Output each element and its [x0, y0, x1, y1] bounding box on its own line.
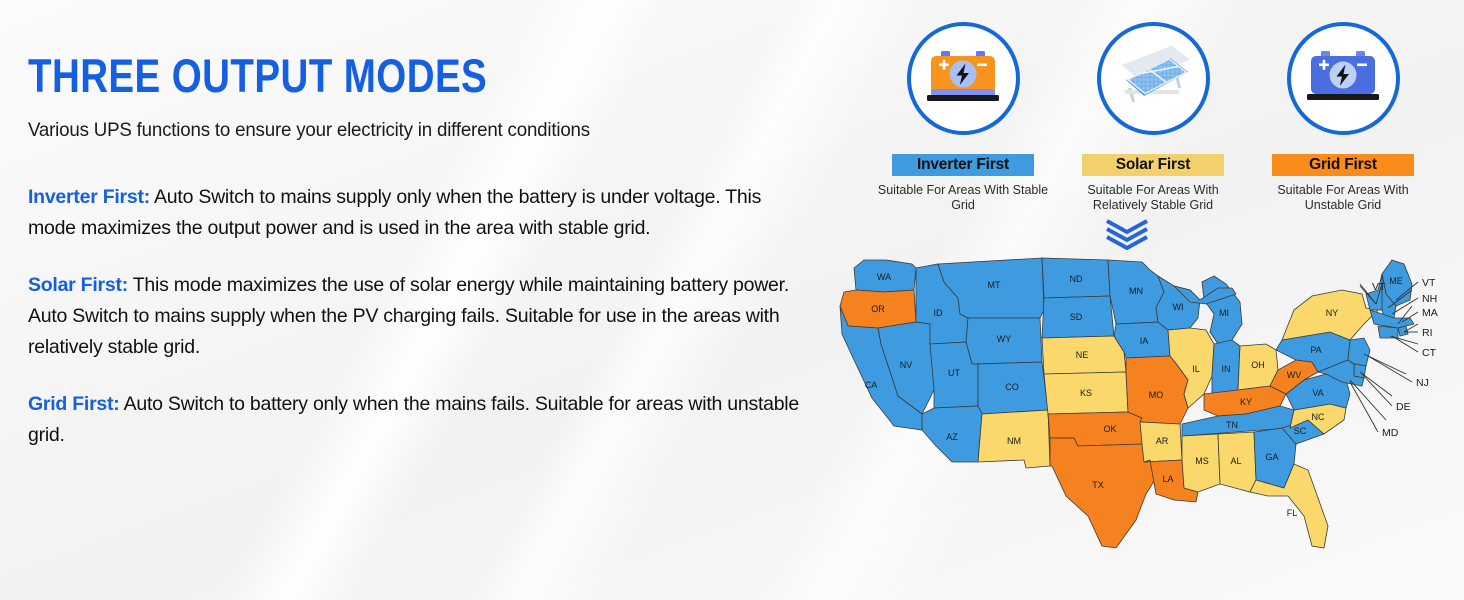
us-map-svg: WA OR CA NV ID MT WY UT CO [826, 248, 1456, 588]
card-inverter-first: Inverter First Suitable For Areas With S… [868, 22, 1058, 213]
mode-paragraph-grid: Grid First: Auto Switch to battery only … [28, 389, 810, 451]
map-label-GA: GA [1265, 452, 1278, 462]
map-label-SD: SD [1070, 312, 1083, 322]
map-callout-VT: VT [1372, 281, 1386, 293]
map-label-TX: TX [1092, 480, 1104, 490]
map-label-CA: CA [865, 380, 878, 390]
page-title: THREE OUTPUT MODES [28, 52, 684, 99]
promo-banner: THREE OUTPUT MODES Various UPS functions… [0, 0, 1464, 600]
map-label-AR: AR [1156, 436, 1169, 446]
map-label-SC: SC [1294, 426, 1307, 436]
map-label-ID: ID [934, 308, 944, 318]
map-label-KS: KS [1080, 388, 1092, 398]
map-label-AZ: AZ [946, 432, 958, 442]
map-label-NE: NE [1076, 350, 1089, 360]
map-label-AL: AL [1230, 456, 1241, 466]
map-callout-label-MD: MD [1382, 427, 1399, 439]
map-label-WV: WV [1287, 370, 1302, 380]
mode-text-grid: Auto Switch to battery only when the mai… [28, 393, 799, 446]
card-subtitle-solar: Suitable For Areas With Relatively Stabl… [1064, 183, 1242, 213]
map-label-PA: PA [1310, 345, 1321, 355]
map-label-ND: ND [1070, 274, 1083, 284]
mode-paragraph-solar: Solar First: This mode maximizes the use… [28, 270, 810, 363]
map-callout-label-NH: NH [1422, 293, 1437, 305]
triple-chevron-down-icon [1097, 216, 1157, 250]
card-icon-circle-solar [1097, 22, 1210, 135]
map-label-ME: ME [1389, 276, 1403, 286]
mode-name-grid: Grid First: [28, 393, 120, 415]
mode-paragraph-inverter: Inverter First: Auto Switch to mains sup… [28, 182, 810, 244]
mode-name-inverter: Inverter First: [28, 186, 150, 208]
battery-orange-icon [924, 48, 1002, 110]
map-label-WI: WI [1173, 302, 1184, 312]
map-label-NM: NM [1007, 436, 1021, 446]
map-callout-label-NJ: NJ [1416, 377, 1429, 389]
map-label-NY: NY [1326, 308, 1339, 318]
map-label-IN: IN [1222, 364, 1231, 374]
map-label-OH: OH [1251, 360, 1265, 370]
map-label-OK: OK [1103, 424, 1116, 434]
card-subtitle-inverter: Suitable For Areas With Stable Grid [874, 183, 1052, 213]
map-callout-label-MA: MA [1422, 307, 1438, 319]
leader-line-DE [1360, 372, 1392, 396]
map-label-MT: MT [988, 280, 1001, 290]
left-text-column: THREE OUTPUT MODES Various UPS functions… [28, 52, 828, 477]
map-callout-label-CT: CT [1422, 347, 1437, 359]
map-label-KY: KY [1240, 397, 1252, 407]
map-label-MI: MI [1219, 308, 1229, 318]
map-state-CT[interactable] [1378, 326, 1398, 338]
card-icon-circle-grid [1287, 22, 1400, 135]
us-map: WA OR CA NV ID MT WY UT CO [826, 248, 1456, 588]
map-label-CO: CO [1005, 382, 1019, 392]
map-label-NV: NV [900, 360, 913, 370]
map-label-NC: NC [1312, 412, 1325, 422]
map-label-IL: IL [1192, 364, 1200, 374]
mode-description-list: Inverter First: Auto Switch to mains sup… [28, 182, 828, 451]
map-label-TN: TN [1226, 420, 1238, 430]
map-label-UT: UT [948, 368, 960, 378]
map-callout-label-VT: VT [1422, 277, 1436, 289]
page-subtitle: Various UPS functions to ensure your ele… [28, 119, 796, 142]
map-label-OR: OR [871, 304, 885, 314]
card-label-solar: Solar First [1082, 154, 1224, 176]
mode-text-solar: This mode maximizes the use of solar ene… [28, 274, 789, 358]
output-mode-cards: Inverter First Suitable For Areas With S… [868, 22, 1438, 213]
mode-name-solar: Solar First: [28, 274, 128, 296]
map-label-FL: FL [1287, 508, 1298, 518]
map-callout-label-DE: DE [1396, 401, 1411, 413]
card-icon-circle-inverter [907, 22, 1020, 135]
map-label-MO: MO [1149, 390, 1164, 400]
map-label-WA: WA [877, 272, 891, 282]
card-label-inverter: Inverter First [892, 154, 1034, 176]
map-label-MN: MN [1129, 286, 1143, 296]
map-state-TX[interactable] [1050, 438, 1156, 548]
map-callout-label-RI: RI [1422, 327, 1433, 339]
map-label-IA: IA [1140, 336, 1149, 346]
card-grid-first: Grid First Suitable For Areas With Unsta… [1248, 22, 1438, 213]
battery-blue-icon [1304, 48, 1382, 110]
map-label-WY: WY [997, 334, 1012, 344]
card-label-grid: Grid First [1272, 154, 1414, 176]
map-label-VA: VA [1312, 388, 1323, 398]
solar-panel-icon [1112, 44, 1194, 114]
map-label-MS: MS [1195, 456, 1209, 466]
map-label-LA: LA [1162, 474, 1173, 484]
card-solar-first: Solar First Suitable For Areas With Rela… [1058, 22, 1248, 213]
card-subtitle-grid: Suitable For Areas With Unstable Grid [1254, 183, 1432, 213]
